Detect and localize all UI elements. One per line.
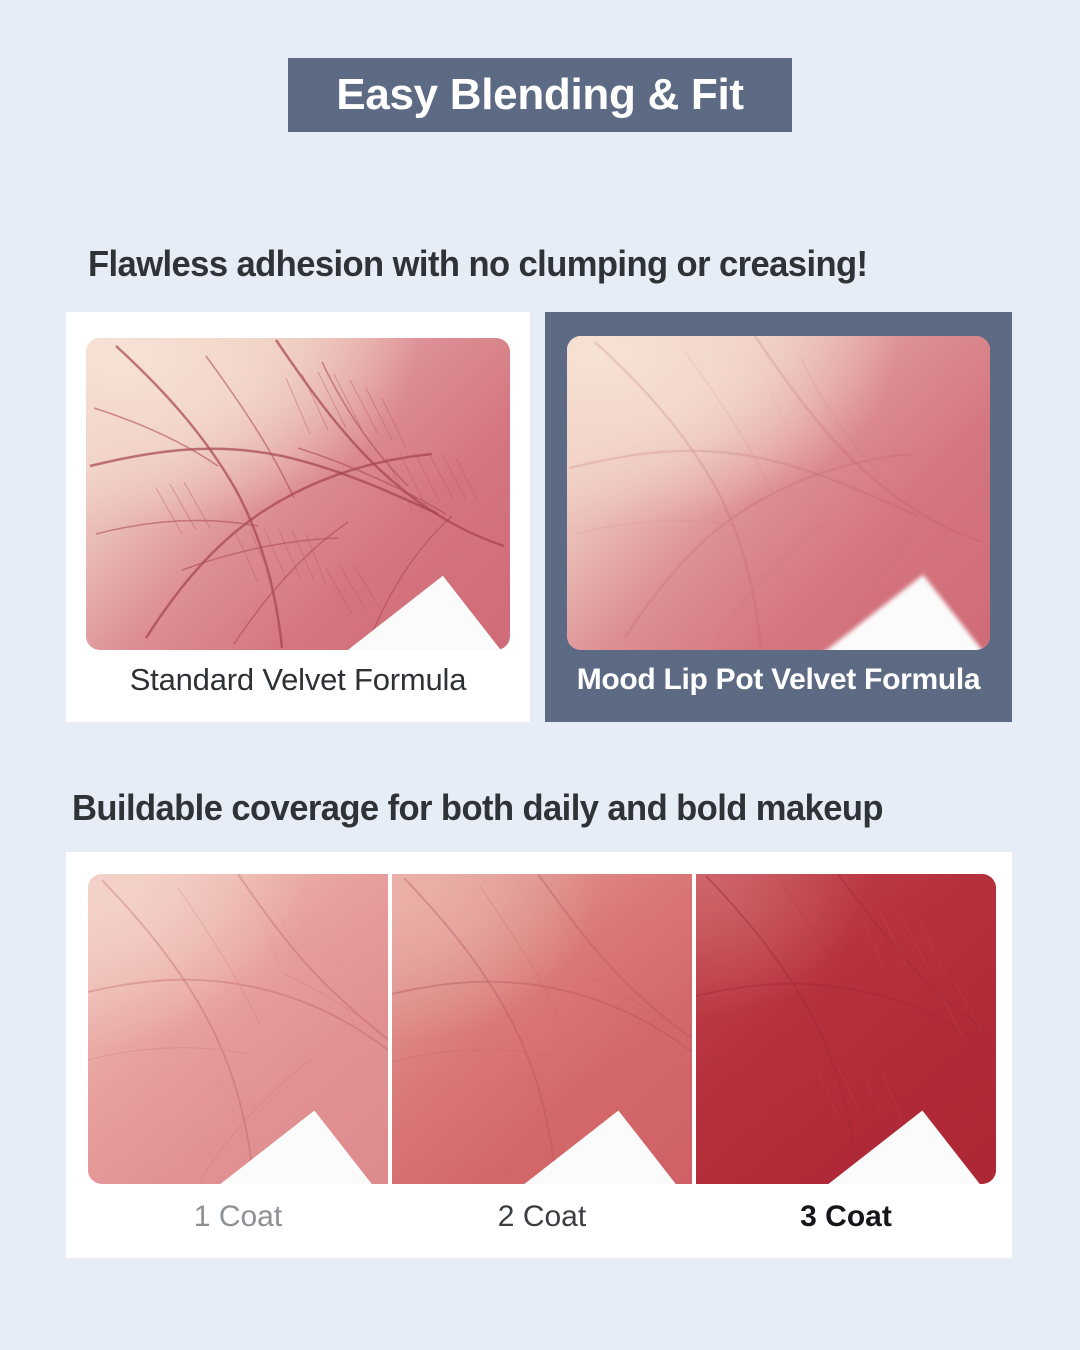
palm-creases-overlay [696,874,996,1184]
palm-creases-overlay [88,874,388,1184]
product-detail-page: Easy Blending & Fit Flawless adhesion wi… [0,0,1080,1350]
coat-label-2: 2 Coat [392,1200,692,1234]
title-banner: Easy Blending & Fit [288,58,792,132]
coats-card: 1 Coat 2 Coat 3 Coat [66,852,1012,1258]
section-heading-buildable: Buildable coverage for both daily and bo… [72,787,883,829]
hand-swatch-3-coat [696,874,996,1184]
comparison-card-standard: Standard Velvet Formula [66,312,530,722]
hand-swatch-1-coat [88,874,388,1184]
coat-label-1: 1 Coat [88,1200,388,1234]
hand-swatch-standard-velvet [86,338,510,650]
coat-label-3: 3 Coat [696,1200,996,1234]
caption-mood-lip-pot-velvet-formula: Mood Lip Pot Velvet Formula [545,663,1012,697]
caption-standard-velvet-formula: Standard Velvet Formula [66,662,530,698]
comparison-card-mood-highlighted: Mood Lip Pot Velvet Formula [545,312,1012,722]
hand-swatch-2-coat [392,874,692,1184]
hand-swatch-mood-lip-pot-velvet [567,336,990,650]
palm-creases-overlay [392,874,692,1184]
title-banner-text: Easy Blending & Fit [336,73,743,117]
section-heading-adhesion: Flawless adhesion with no clumping or cr… [88,243,867,285]
